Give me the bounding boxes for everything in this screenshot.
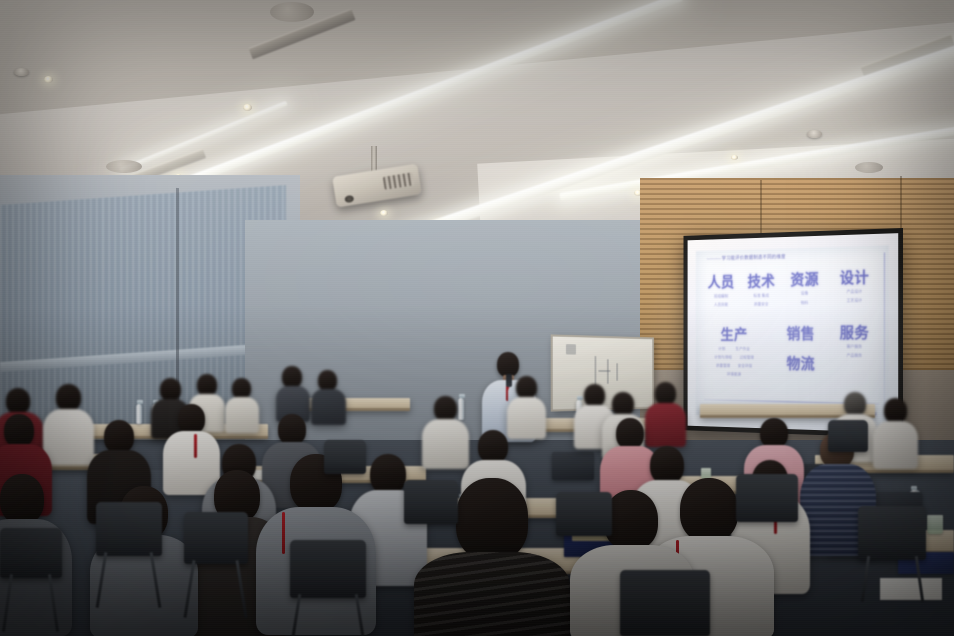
slide-group-design: 设计 产品设计 工艺设计 [830,270,879,304]
slide-sub: 客户服务 [847,344,863,350]
slide-group-sales: 销售 [779,327,822,342]
slide-right-accent [884,253,885,407]
slide-sub: 标准 集成 [753,293,769,299]
slide-heading: 物流 [779,357,822,372]
slide-group-logistics: 物流 [779,357,822,372]
chair[interactable] [404,480,458,524]
slide-title: ·—·—·— 学习能评价数据制造不同的维度 [706,254,785,263]
chair[interactable] [736,474,798,522]
slide-sub: 物料 [801,300,808,306]
slide-group-production: 生产 计划 生产作业 计划与排程 过程管理 质量管理 安全环保 [705,328,765,377]
slide-heading: 销售 [779,327,822,342]
slide-heading: 设计 [830,270,879,286]
chair[interactable] [858,506,926,560]
slide-sub: 计划与排程 [714,354,732,360]
slide-sub: 环境能源 [727,372,741,378]
slide-sub: 计划 [718,346,725,352]
slide-sub: 安全环保 [738,363,752,369]
slide-sub: 过程管理 [740,355,754,361]
slide-sub: 班组编制 [714,293,728,299]
slide-headings-grid: 人员 班组编制 人员技能 技术 标准 集成 质量安全 资源 设备 物料 [695,270,889,400]
screen-surface: ·—·—·— 学习能评价数据制造不同的维度 人员 班组编制 人员技能 技术 标准… [688,233,899,433]
slide-sub: 产品设计 [847,289,863,295]
slide-sub: 设备 [801,291,808,297]
projector-lens [344,195,354,203]
slide-title-dashes: ·—·—·— [706,256,720,262]
slide-sub: 质量安全 [754,301,769,307]
spotlight-icon [731,155,738,160]
ceiling-speaker-icon [855,162,883,173]
slide-heading: 生产 [705,328,765,343]
slide-heading: 人员 [703,276,740,291]
spotlight-icon [380,210,388,216]
chair[interactable] [0,528,62,578]
slide-group-service: 服务 客户服务 产品服务 [830,326,879,359]
ceiling-speaker-icon [270,2,314,22]
chair[interactable] [324,440,366,474]
slide-group-personnel: 人员 班组编制 人员技能 [703,276,740,308]
water-bottle[interactable] [458,398,464,420]
chair[interactable] [620,570,710,636]
slide-group-resources: 资源 设备 物料 [785,273,824,306]
slide-sub: 生产作业 [736,346,750,352]
smoke-detector-icon [14,68,29,76]
spotlight-icon [44,76,53,83]
chair[interactable] [828,420,868,452]
slide-sub: 人员技能 [714,302,728,308]
chair[interactable] [290,540,366,598]
slide-title-text: 学习能评价数据制造不同的维度 [722,255,786,262]
water-bottle[interactable] [136,404,142,424]
paper-cup[interactable] [927,515,943,534]
laptop[interactable] [552,452,594,480]
conference-room-photo: ·—·—·— 学习能评价数据制造不同的维度 人员 班组编制 人员技能 技术 标准… [0,0,954,636]
smoke-detector-icon [807,130,822,138]
ceiling-speaker-icon [106,160,142,173]
microphone-icon[interactable] [506,374,512,387]
projector-vent [383,172,415,190]
chair[interactable] [96,502,162,556]
projector-mount [371,146,377,172]
slide-sub: 质量管理 [716,363,730,369]
chair[interactable] [184,512,248,564]
slide-group-technology: 技术 标准 集成 质量安全 [741,275,781,308]
spotlight-icon [243,104,252,111]
chair[interactable] [556,492,612,536]
slide-sub: 工艺设计 [847,298,863,304]
slide-heading: 服务 [830,326,879,341]
slide-sub: 产品服务 [847,353,863,359]
slide-heading: 技术 [741,275,781,290]
slide-heading: 资源 [785,273,824,289]
document-sheet[interactable] [880,578,942,600]
